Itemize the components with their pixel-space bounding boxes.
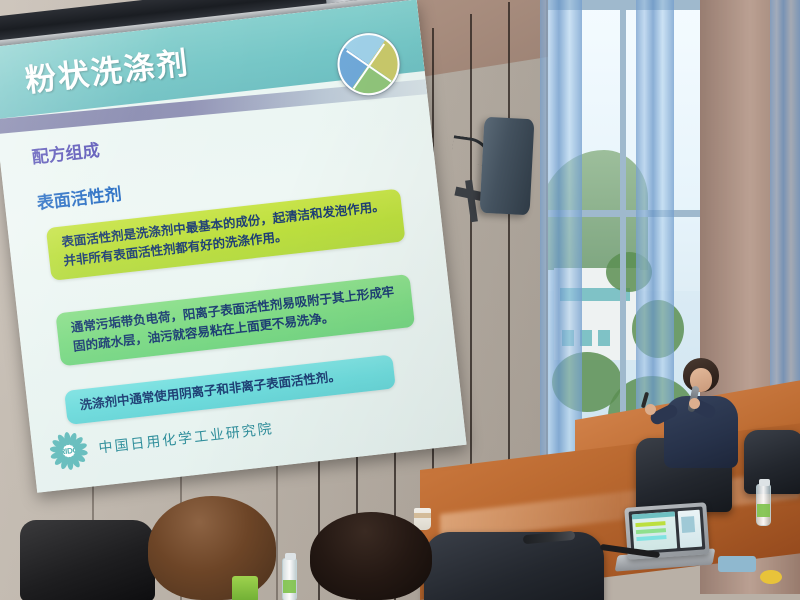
bottle-cap — [759, 479, 770, 486]
audience-member-dark-hair — [310, 512, 432, 600]
laptop-next-slide-preview — [678, 510, 702, 548]
presenter-right-hand — [689, 398, 700, 409]
wall-speaker — [480, 117, 535, 215]
blue-item-on-table — [718, 556, 756, 572]
presentation-slide: 粉状洗涤剂 配方组成 表面活性剂 表面活性剂是洗涤剂中最基本的成份，起清洁和发泡… — [0, 0, 467, 493]
black-bag — [20, 520, 155, 600]
bottle-label — [757, 504, 770, 517]
slide-heading-surfactant: 表面活性剂 — [35, 180, 122, 214]
ridc-logo-icon: RIDC — [47, 429, 91, 473]
presenter-left-hand — [645, 404, 656, 415]
window-mullion — [620, 0, 626, 470]
exterior-building-window — [598, 330, 610, 346]
bottle-label — [283, 580, 296, 593]
chair-foreground — [424, 532, 604, 600]
slide-heading-formula-composition: 配方组成 — [30, 136, 100, 168]
bottle-cap — [285, 553, 296, 560]
yellow-item-on-table — [760, 570, 782, 584]
green-beverage-can — [232, 576, 258, 600]
projection-screen-assembly: 粉状洗涤剂 配方组成 表面活性剂 表面活性剂是洗涤剂中最基本的成份，起清洁和发泡… — [0, 0, 473, 495]
curtain-far-right — [770, 0, 800, 424]
conference-room-photo: 粉状洗涤剂 配方组成 表面活性剂 表面活性剂是洗涤剂中最基本的成份，起清洁和发泡… — [0, 0, 800, 600]
water-bottle-right — [756, 484, 771, 526]
organization-name: 中国日用化学工业研究院 — [98, 418, 275, 457]
projection-screen: 粉状洗涤剂 配方组成 表面活性剂 表面活性剂是洗涤剂中最基本的成份，起清洁和发泡… — [0, 0, 467, 493]
laptop-slide-preview — [632, 511, 678, 551]
water-bottle-foreground — [282, 558, 297, 600]
chair-back-right — [744, 430, 800, 494]
laptop-display — [629, 506, 706, 554]
slide-callout-2: 通常污垢带负电荷，阳离子表面活性剂易吸附于其上形成牢固的疏水层，油污就容易粘在上… — [55, 274, 415, 366]
